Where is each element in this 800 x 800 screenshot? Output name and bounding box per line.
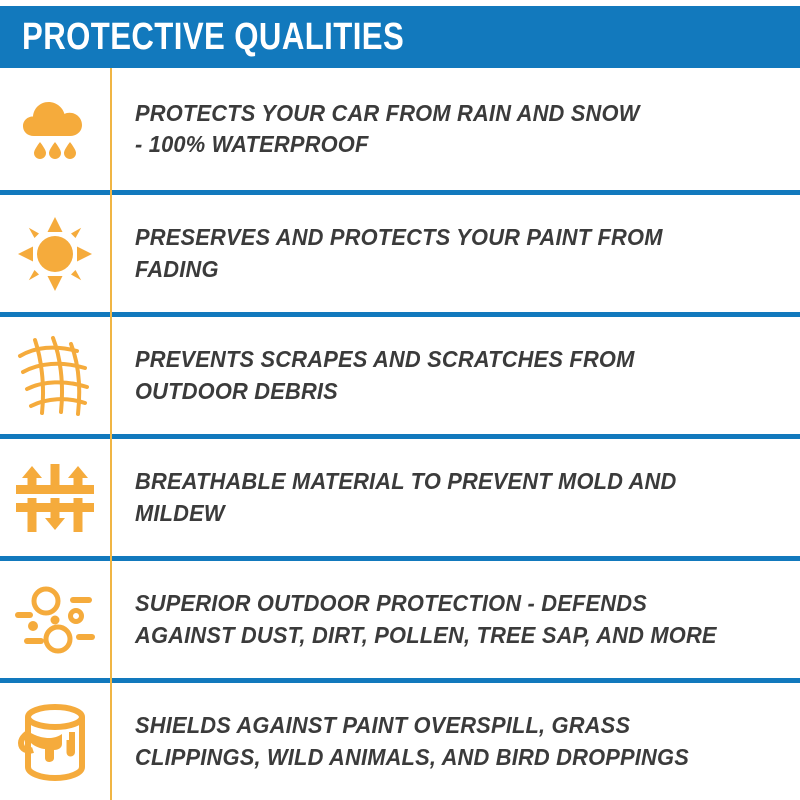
list-item: BREATHABLE MATERIAL TO PREVENT MOLD AND … bbox=[0, 434, 800, 556]
feature-text-line1: SUPERIOR OUTDOOR PROTECTION - DEFENDS bbox=[135, 590, 647, 616]
feature-text-line2: FADING bbox=[135, 254, 740, 285]
paint-can-icon bbox=[17, 700, 93, 784]
icon-cell bbox=[0, 683, 110, 800]
text-cell: PREVENTS SCRAPES AND SCRATCHES FROM OUTD… bbox=[110, 344, 800, 406]
sun-icon bbox=[16, 215, 94, 293]
list-item: PRESERVES AND PROTECTS YOUR PAINT FROM F… bbox=[0, 190, 800, 312]
protective-qualities-infographic: PROTECTIVE QUALITIES bbox=[0, 0, 800, 800]
feature-text-line1: BREATHABLE MATERIAL TO PREVENT MOLD AND bbox=[135, 468, 676, 494]
list-item: PREVENTS SCRAPES AND SCRATCHES FROM OUTD… bbox=[0, 312, 800, 434]
icon-cell bbox=[0, 195, 110, 312]
icon-cell bbox=[0, 561, 110, 678]
rain-cloud-icon bbox=[18, 92, 92, 166]
feature-list: PROTECTS YOUR CAR FROM RAIN AND SNOW - 1… bbox=[0, 68, 800, 800]
feature-text: PREVENTS SCRAPES AND SCRATCHES FROM OUTD… bbox=[135, 344, 740, 406]
feature-text-line1: SHIELDS AGAINST PAINT OVERSPILL, GRASS bbox=[135, 712, 630, 738]
icon-cell bbox=[0, 317, 110, 434]
page-title: PROTECTIVE QUALITIES bbox=[22, 18, 404, 56]
feature-text: BREATHABLE MATERIAL TO PREVENT MOLD AND … bbox=[135, 466, 740, 528]
list-item: PROTECTS YOUR CAR FROM RAIN AND SNOW - 1… bbox=[0, 68, 800, 190]
list-item: SUPERIOR OUTDOOR PROTECTION - DEFENDS AG… bbox=[0, 556, 800, 678]
text-cell: BREATHABLE MATERIAL TO PREVENT MOLD AND … bbox=[110, 466, 800, 528]
feature-text-line1: PREVENTS SCRAPES AND SCRATCHES FROM bbox=[135, 346, 635, 372]
feature-text-line2: - 100% WATERPROOF bbox=[135, 129, 740, 160]
feature-text: PRESERVES AND PROTECTS YOUR PAINT FROM F… bbox=[135, 222, 740, 284]
vertical-divider bbox=[110, 68, 112, 800]
icon-cell bbox=[0, 439, 110, 556]
dust-particles-icon bbox=[13, 581, 97, 659]
text-cell: PRESERVES AND PROTECTS YOUR PAINT FROM F… bbox=[110, 222, 800, 284]
feature-text: SUPERIOR OUTDOOR PROTECTION - DEFENDS AG… bbox=[135, 588, 740, 650]
text-cell: PROTECTS YOUR CAR FROM RAIN AND SNOW - 1… bbox=[110, 98, 800, 160]
list-item: SHIELDS AGAINST PAINT OVERSPILL, GRASS C… bbox=[0, 678, 800, 800]
feature-text-line1: PRESERVES AND PROTECTS YOUR PAINT FROM bbox=[135, 224, 663, 250]
feature-text-line2: OUTDOOR DEBRIS bbox=[135, 376, 740, 407]
text-cell: SUPERIOR OUTDOOR PROTECTION - DEFENDS AG… bbox=[110, 588, 800, 650]
text-cell: SHIELDS AGAINST PAINT OVERSPILL, GRASS C… bbox=[110, 710, 800, 772]
header-bar: PROTECTIVE QUALITIES bbox=[0, 6, 800, 68]
icon-cell bbox=[0, 68, 110, 190]
feature-text-line2: AGAINST DUST, DIRT, POLLEN, TREE SAP, AN… bbox=[135, 620, 740, 651]
breathable-airflow-arrows-icon bbox=[14, 458, 96, 538]
feature-text-line2: MILDEW bbox=[135, 498, 740, 529]
scratches-icon bbox=[15, 334, 95, 418]
feature-text: SHIELDS AGAINST PAINT OVERSPILL, GRASS C… bbox=[135, 710, 740, 772]
feature-text-line1: PROTECTS YOUR CAR FROM RAIN AND SNOW bbox=[135, 100, 640, 126]
feature-text: PROTECTS YOUR CAR FROM RAIN AND SNOW - 1… bbox=[135, 98, 740, 160]
feature-text-line2: CLIPPINGS, WILD ANIMALS, AND BIRD DROPPI… bbox=[135, 742, 740, 773]
